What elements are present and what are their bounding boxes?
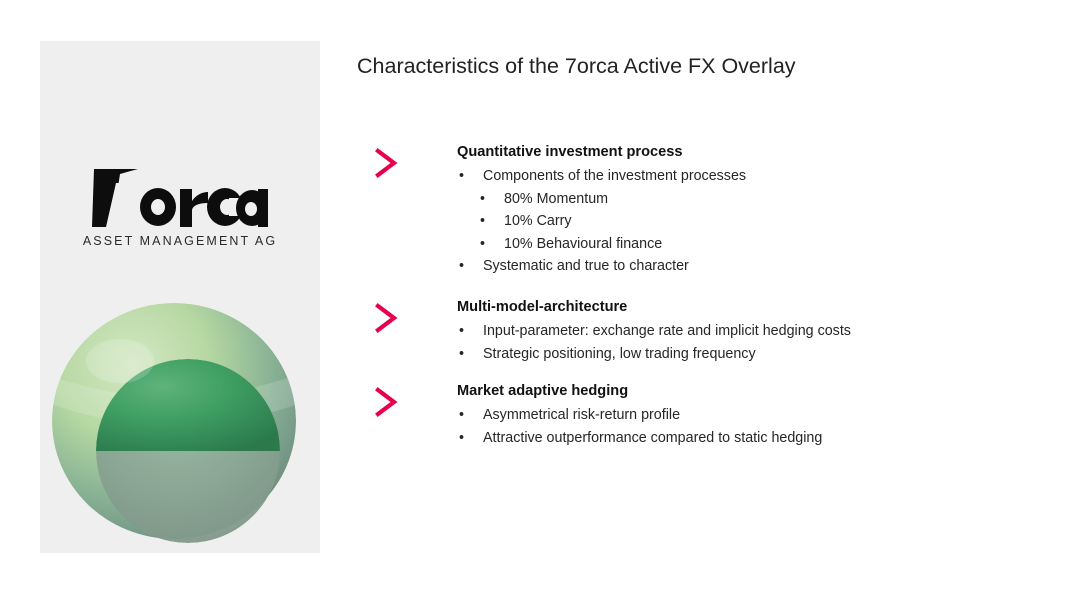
content-section: Multi-model-architecture • Input-paramet… xyxy=(357,297,1047,365)
list-item-label: Strategic positioning, low trading frequ… xyxy=(483,346,756,362)
logo-wordmark-7orca xyxy=(92,167,268,229)
chevron-right-icon xyxy=(374,148,400,178)
bullet-dot-icon: • xyxy=(459,165,464,188)
list-item: • 80% Momentum xyxy=(457,188,1047,211)
section-body: Quantitative investment process • Compon… xyxy=(457,142,1047,278)
list-item: • Components of the investment processes xyxy=(457,165,1047,188)
bullet-list: • Input-parameter: exchange rate and imp… xyxy=(457,320,1047,365)
list-item-label: Components of the investment processes xyxy=(483,168,746,184)
bullet-dot-icon: • xyxy=(459,255,464,278)
section-heading: Quantitative investment process xyxy=(457,142,1047,162)
content-section: Quantitative investment process • Compon… xyxy=(357,142,1047,278)
list-item-label: Systematic and true to character xyxy=(483,258,689,274)
bullet-dot-icon: • xyxy=(480,233,485,256)
logo-subtitle: ASSET MANAGEMENT AG xyxy=(40,234,320,248)
list-item: • Systematic and true to character xyxy=(457,255,1047,278)
content-section: Market adaptive hedging • Asymmetrical r… xyxy=(357,381,1047,449)
bullet-list: • Components of the investment processes… xyxy=(457,165,1047,278)
bullet-dot-icon: • xyxy=(459,343,464,366)
list-item-label: 80% Momentum xyxy=(504,191,608,207)
company-logo: ASSET MANAGEMENT AG xyxy=(40,167,320,248)
list-item: • 10% Behavioural finance xyxy=(457,233,1047,256)
bullet-dot-icon: • xyxy=(459,320,464,343)
list-item: • 10% Carry xyxy=(457,210,1047,233)
list-item: • Strategic positioning, low trading fre… xyxy=(457,343,1047,366)
list-item-label: 10% Behavioural finance xyxy=(504,236,662,252)
section-body: Multi-model-architecture • Input-paramet… xyxy=(457,297,1047,365)
section-body: Market adaptive hedging • Asymmetrical r… xyxy=(457,381,1047,449)
bullet-dot-icon: • xyxy=(459,404,464,427)
page-title: Characteristics of the 7orca Active FX O… xyxy=(357,54,796,79)
bullet-dot-icon: • xyxy=(480,210,485,233)
list-item: • Attractive outperformance compared to … xyxy=(457,427,1047,450)
brand-panel: ASSET MANAGEMENT AG xyxy=(40,41,320,553)
list-item-label: Attractive outperformance compared to st… xyxy=(483,430,822,446)
list-item: • Input-parameter: exchange rate and imp… xyxy=(457,320,1047,343)
chevron-right-icon xyxy=(374,303,400,333)
bullet-dot-icon: • xyxy=(480,188,485,211)
list-item-label: Asymmetrical risk-return profile xyxy=(483,407,680,423)
list-item: • Asymmetrical risk-return profile xyxy=(457,404,1047,427)
list-item-label: Input-parameter: exchange rate and impli… xyxy=(483,323,851,339)
bullet-dot-icon: • xyxy=(459,427,464,450)
section-heading: Market adaptive hedging xyxy=(457,381,1047,401)
section-heading: Multi-model-architecture xyxy=(457,297,1047,317)
list-item-label: 10% Carry xyxy=(504,213,572,229)
bullet-list: • Asymmetrical risk-return profile • Att… xyxy=(457,404,1047,449)
content-sections: Quantitative investment process • Compon… xyxy=(357,142,1047,455)
overlapping-spheres-graphic xyxy=(48,293,312,545)
chevron-right-icon xyxy=(374,387,400,417)
